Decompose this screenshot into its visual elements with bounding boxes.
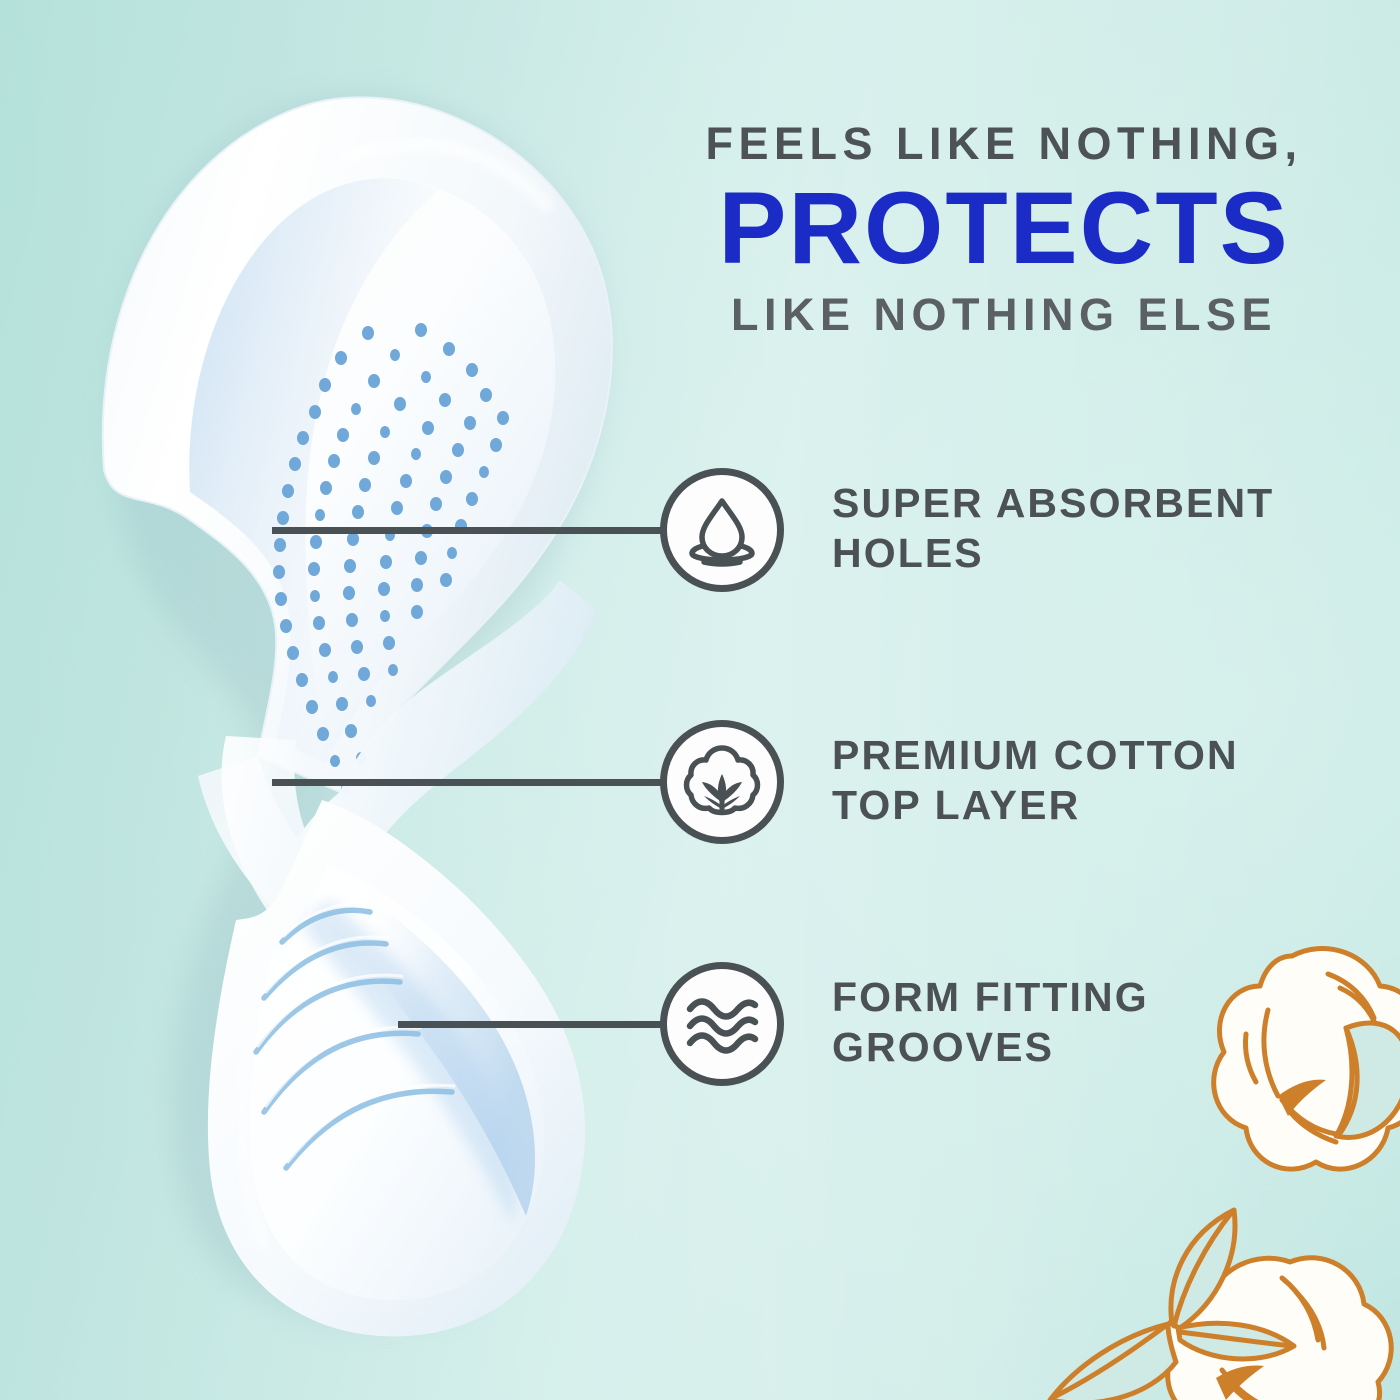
product-image: [40, 40, 680, 1370]
connector-line-grooves: [398, 1021, 672, 1028]
cotton-boll-decoration: [1010, 900, 1400, 1400]
feature-premium-cotton-top-layer: PREMIUM COTTON TOP LAYER: [660, 720, 1239, 844]
connector-line-holes: [272, 527, 672, 534]
connector-line-cotton: [272, 779, 672, 786]
feature-label: PREMIUM COTTON TOP LAYER: [832, 730, 1239, 830]
feature-label: SUPER ABSORBENT HOLES: [832, 478, 1274, 578]
wavy-lines-icon: [660, 962, 784, 1086]
headline-line-1: FEELS LIKE NOTHING,: [648, 120, 1360, 168]
headline-line-2: PROTECTS: [648, 174, 1360, 283]
infographic-canvas: FEELS LIKE NOTHING, PROTECTS LIKE NOTHIN…: [0, 0, 1400, 1400]
headline-line-3: LIKE NOTHING ELSE: [648, 291, 1360, 339]
cotton-boll-icon: [660, 720, 784, 844]
headline-block: FEELS LIKE NOTHING, PROTECTS LIKE NOTHIN…: [648, 120, 1360, 339]
feature-super-absorbent-holes: SUPER ABSORBENT HOLES: [660, 468, 1274, 592]
water-drop-icon: [660, 468, 784, 592]
